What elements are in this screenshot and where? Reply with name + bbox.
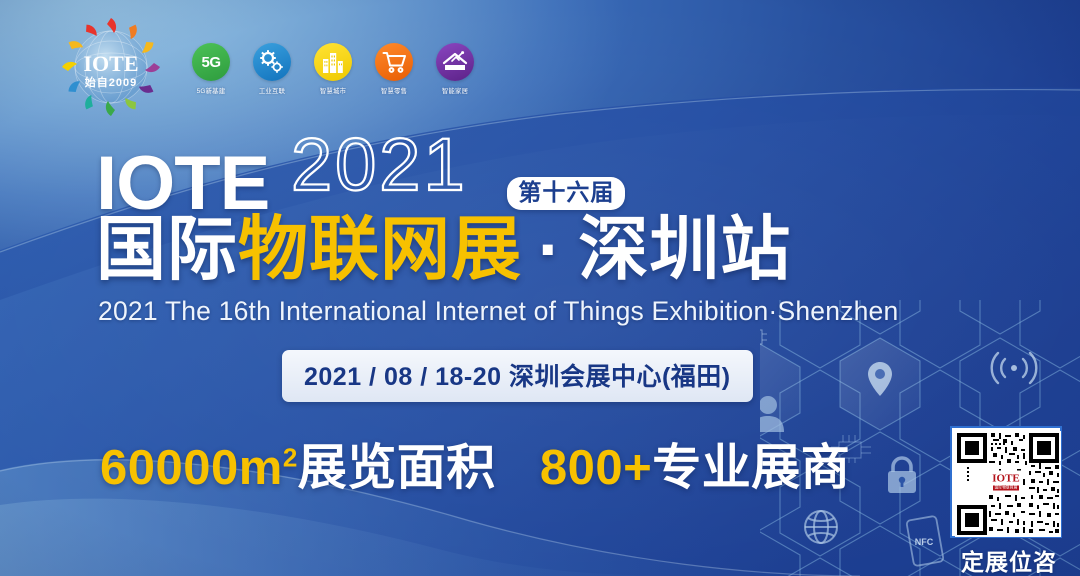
stat-area-unit: 2 [283,443,298,473]
iote-globe-logo: IOTE 始自2009 [62,18,160,116]
chinese-title: 国际物联网展·深圳站 [96,214,791,284]
main-title-row: IOTE 2021 第十六届 [96,131,625,216]
5g-icon-glyph: 5G [201,54,220,71]
city-buildings-icon [314,43,352,81]
chinese-title-prefix: 国际 [96,210,238,288]
category-item-5g[interactable]: 5G 5G新基建 [190,43,232,95]
category-label-smartcity: 智慧城市 [320,86,346,95]
category-item-industrial[interactable]: 工业互联 [251,43,293,95]
title-brand: IOTE [96,151,269,216]
5g-icon: 5G [192,43,230,81]
category-item-smarthome[interactable]: 智能家居 [434,43,476,95]
chinese-title-dot: · [522,210,578,288]
category-item-smartcity[interactable]: 智慧城市 [312,43,354,95]
qr-label: 定展位咨询 [950,543,1068,576]
chinese-title-suffix: 深圳站 [578,210,791,288]
shopping-cart-icon [375,43,413,81]
qr-center-logo: IOTE 国际物联网展 [989,471,1023,494]
category-item-retail[interactable]: 智慧零售 [373,43,415,95]
globe-logo-sub: 始自2009 [85,75,137,89]
globe-logo-text: IOTE [83,51,138,76]
stat-exhibitor-label: 专业展商 [652,441,850,495]
date-venue-pill: 2021 / 08 / 18-20 深圳会展中心(福田) [282,350,753,402]
smart-home-icon [436,43,474,81]
title-year-outline: 2021 [291,128,468,206]
category-label-smarthome: 智能家居 [442,86,468,95]
poster-canvas: NFC [0,0,1080,576]
category-label-5g: 5G新基建 [197,86,226,95]
gears-icon [253,43,291,81]
qr-block[interactable]: IOTE 国际物联网展 定展位咨询 [950,426,1068,576]
edition-badge: 第十六届 [507,177,625,210]
header-row: IOTE 始自2009 5G 5G新基建 [62,18,476,116]
category-label-industrial: 工业互联 [259,86,285,95]
qr-center-text: IOTE [992,474,1020,485]
stat-area-number: 60000m [100,441,283,495]
qr-code-icon[interactable]: IOTE 国际物联网展 [950,426,1062,538]
category-label-retail: 智慧零售 [381,86,407,95]
stat-area-label: 展览面积 [298,441,496,495]
category-icon-list: 5G 5G新基建 [190,43,476,95]
english-title: 2021 The 16th International Internet of … [98,296,898,327]
stats-row: 60000m2展览面积800+专业展商 [100,428,850,499]
stat-exhibitor-number: 800+ [540,441,652,495]
chinese-title-highlight: 物联网展 [238,210,522,288]
title-year: 2021 [291,128,491,213]
qr-center-sub: 国际物联网展 [993,486,1020,491]
